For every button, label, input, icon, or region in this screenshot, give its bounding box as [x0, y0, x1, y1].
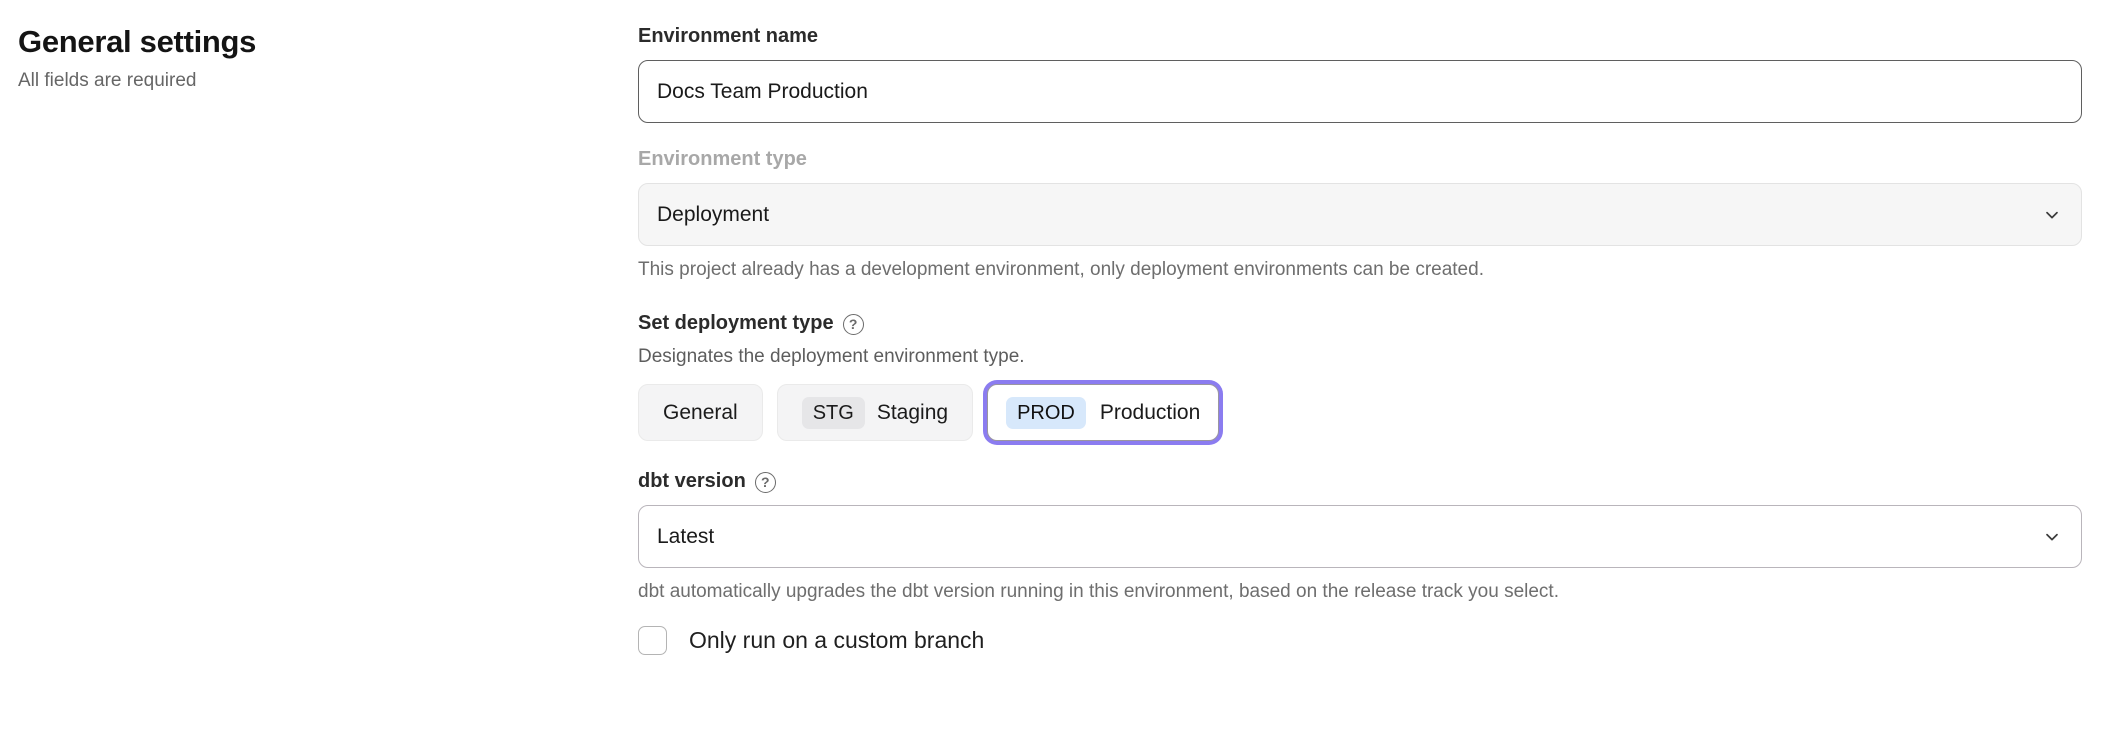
chevron-down-icon: [2043, 206, 2061, 224]
question-circle-icon[interactable]: ?: [843, 314, 864, 335]
deployment-type-option-staging[interactable]: STG Staging: [777, 384, 973, 441]
deployment-type-description: Designates the deployment environment ty…: [638, 344, 2082, 370]
dbt-version-select[interactable]: Latest: [638, 505, 2082, 568]
deployment-type-label-text: Set deployment type: [638, 309, 834, 337]
custom-branch-checkbox[interactable]: [638, 626, 667, 655]
question-circle-icon[interactable]: ?: [755, 472, 776, 493]
environment-type-select[interactable]: Deployment: [638, 183, 2082, 246]
dbt-version-field: dbt version ? Latest dbt automatically u…: [638, 467, 2082, 605]
settings-form: Environment name Docs Team Production En…: [638, 22, 2082, 655]
environment-name-input[interactable]: Docs Team Production: [638, 60, 2082, 123]
environment-type-help-text: This project already has a development e…: [638, 257, 2082, 283]
environment-type-value: Deployment: [657, 203, 769, 227]
custom-branch-row[interactable]: Only run on a custom branch: [638, 625, 2082, 655]
environment-type-label: Environment type: [638, 145, 2082, 173]
dbt-version-label: dbt version ?: [638, 467, 2082, 495]
deployment-type-label: Set deployment type ?: [638, 309, 2082, 337]
environment-name-label: Environment name: [638, 22, 2082, 50]
dbt-version-help-text: dbt automatically upgrades the dbt versi…: [638, 579, 2082, 605]
page-title: General settings: [18, 22, 578, 62]
deployment-type-option-general-label: General: [663, 401, 738, 425]
production-badge: PROD: [1006, 397, 1086, 429]
deployment-type-options: General STG Staging PROD Production: [638, 384, 2082, 441]
page-subtitle: All fields are required: [18, 68, 578, 94]
chevron-down-icon: [2043, 528, 2061, 546]
dbt-version-value: Latest: [657, 525, 714, 549]
dbt-version-label-text: dbt version: [638, 467, 746, 495]
environment-type-field: Environment type Deployment This project…: [638, 145, 2082, 283]
deployment-type-option-production-label: Production: [1100, 401, 1200, 425]
deployment-type-option-staging-label: Staging: [877, 401, 948, 425]
settings-header: General settings All fields are required: [18, 22, 578, 94]
environment-name-field: Environment name Docs Team Production: [638, 22, 2082, 123]
custom-branch-label: Only run on a custom branch: [689, 625, 984, 655]
deployment-type-option-production[interactable]: PROD Production: [987, 384, 1219, 441]
general-settings-page: General settings All fields are required…: [0, 0, 2110, 742]
staging-badge: STG: [802, 397, 865, 429]
deployment-type-field: Set deployment type ? Designates the dep…: [638, 309, 2082, 441]
deployment-type-option-general[interactable]: General: [638, 384, 763, 441]
